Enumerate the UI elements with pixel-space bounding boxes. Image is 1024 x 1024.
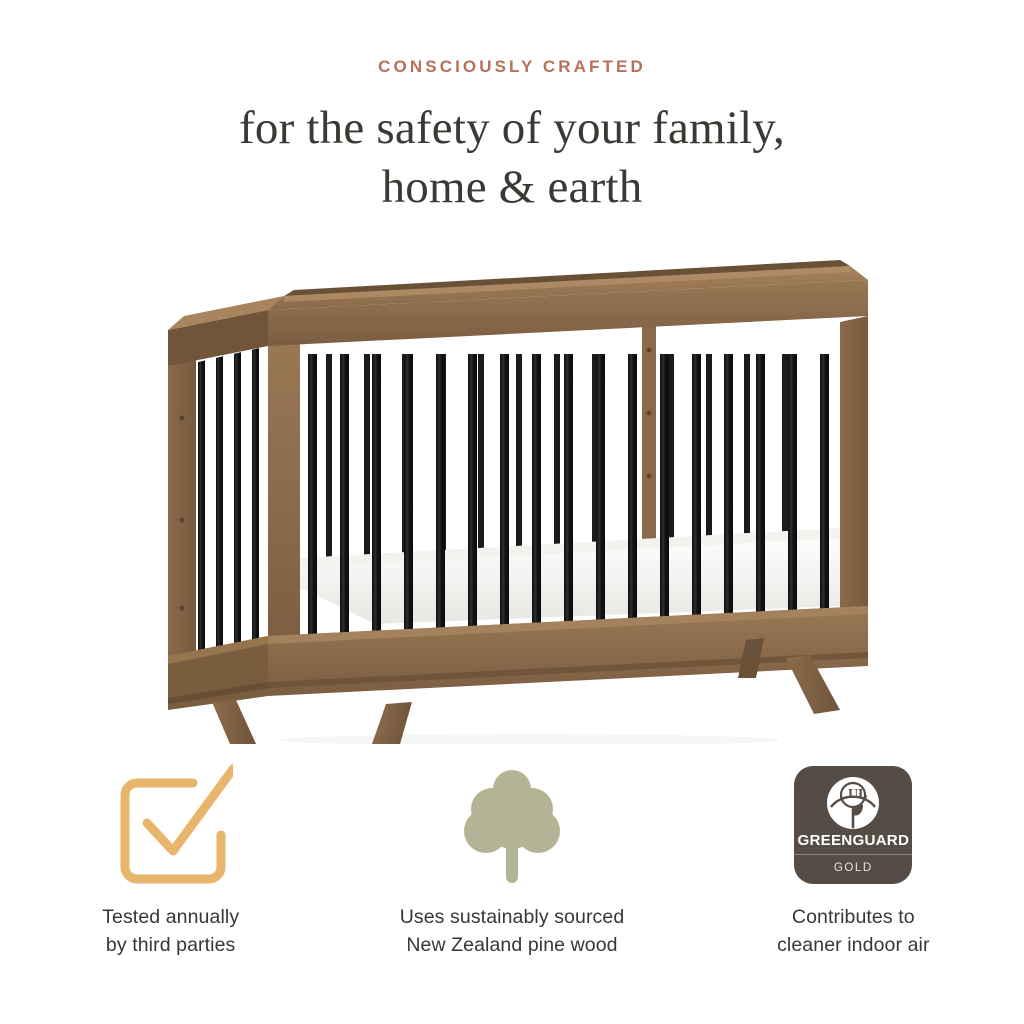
greenguard-gold-badge-icon: UL GREENGUARD GOLD <box>794 766 912 884</box>
feature-item-sustainable-wood: Uses sustainably sourced New Zealand pin… <box>341 756 682 959</box>
feature-item-greenguard: UL GREENGUARD GOLD Contributes to cleane… <box>683 756 1024 959</box>
ul-seal-icon: UL <box>825 775 881 831</box>
feature-caption-line-1: Tested annually <box>102 904 239 932</box>
ul-letter-u: UL <box>848 787 867 802</box>
crib-corner-post-right <box>840 316 868 644</box>
feature-icon-wrapper <box>109 756 233 894</box>
greenguard-tier-label: GOLD <box>834 862 873 874</box>
crib-ground-shadow <box>280 734 780 744</box>
feature-icon-wrapper: UL GREENGUARD GOLD <box>794 756 912 894</box>
crib-hardware-hole <box>179 605 184 610</box>
feature-caption: Tested annually by third parties <box>102 904 239 959</box>
feature-item-tested-annually: Tested annually by third parties <box>0 756 341 959</box>
crib-corner-post-middle <box>268 336 300 658</box>
feature-caption-line-1: Uses sustainably sourced <box>400 904 625 932</box>
page-title-line-1: for the safety of your family, <box>0 99 1024 158</box>
badge-divider <box>794 854 912 855</box>
crib-illustration <box>150 258 886 744</box>
page-header: CONSCIOUSLY CRAFTED for the safety of yo… <box>0 58 1024 217</box>
feature-caption: Uses sustainably sourced New Zealand pin… <box>400 904 625 959</box>
page-title: for the safety of your family, home & ea… <box>0 99 1024 217</box>
crib-hardware-hole <box>179 517 184 522</box>
page-title-line-2: home & earth <box>0 158 1024 217</box>
feature-list: Tested annually by third parties <box>0 756 1024 959</box>
crib-hardware-hole <box>647 411 652 416</box>
feature-caption-line-1: Contributes to <box>777 904 929 932</box>
feature-caption-line-2: by third parties <box>102 932 239 960</box>
eyebrow-text: CONSCIOUSLY CRAFTED <box>0 58 1024 75</box>
crib-corner-post-left <box>168 358 196 690</box>
crib-back-post <box>642 317 656 560</box>
feature-icon-wrapper <box>456 756 568 894</box>
feature-caption-line-2: cleaner indoor air <box>777 932 929 960</box>
crib-hardware-hole <box>647 474 652 479</box>
checkbox-check-icon <box>109 763 233 887</box>
crib-leg-front-left <box>212 700 256 744</box>
crib-hardware-hole <box>647 348 652 353</box>
tree-icon <box>456 763 568 887</box>
product-image-crib <box>150 258 886 744</box>
feature-caption: Contributes to cleaner indoor air <box>777 904 929 959</box>
feature-caption-line-2: New Zealand pine wood <box>400 932 625 960</box>
crib-hardware-hole <box>179 415 184 420</box>
greenguard-wordmark: GREENGUARD <box>797 833 909 848</box>
marketing-page: CONSCIOUSLY CRAFTED for the safety of yo… <box>0 0 1024 1024</box>
